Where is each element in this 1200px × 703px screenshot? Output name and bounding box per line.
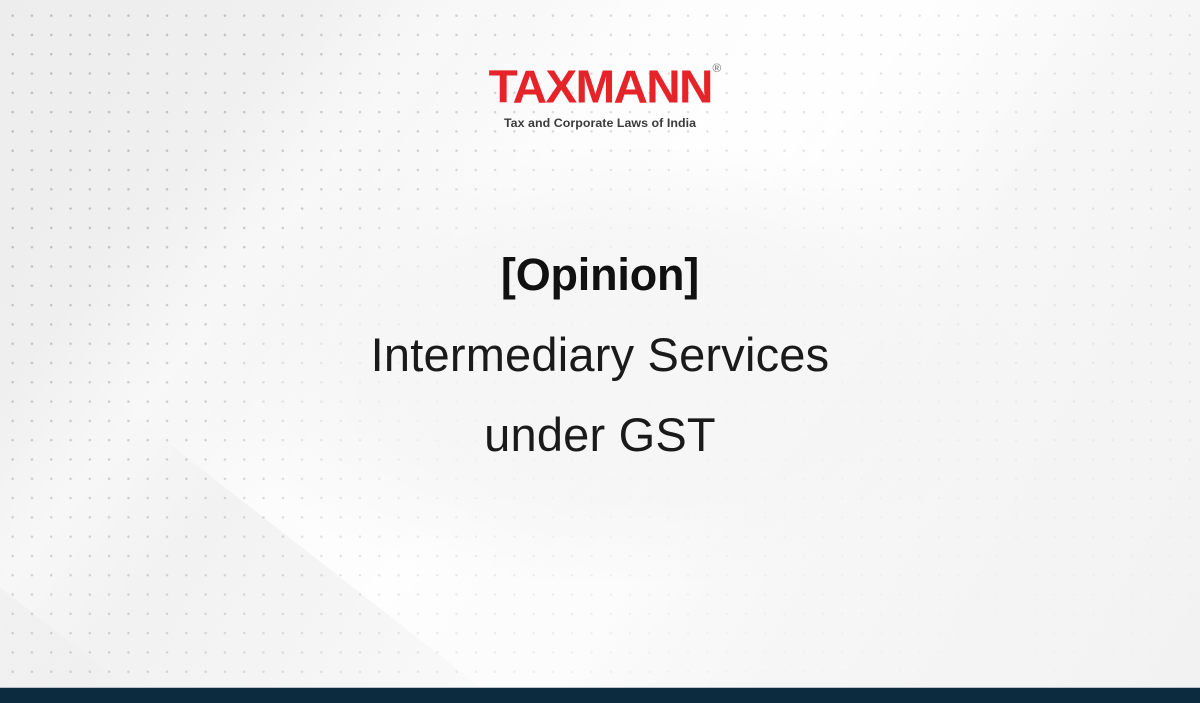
- footer-bar: [0, 688, 1200, 703]
- title-category-tag: [Opinion]: [0, 252, 1200, 297]
- title-line-1: Intermediary Services: [0, 331, 1200, 378]
- taxmann-logo[interactable]: TAXMANN ® Tax and Corporate Laws of Indi…: [0, 64, 1200, 130]
- article-banner: TAXMANN ® Tax and Corporate Laws of Indi…: [0, 0, 1200, 703]
- banner-content: TAXMANN ® Tax and Corporate Laws of Indi…: [0, 0, 1200, 703]
- logo-tagline: Tax and Corporate Laws of India: [0, 116, 1200, 130]
- page-title: [Opinion] Intermediary Services under GS…: [0, 252, 1200, 458]
- registered-trademark-icon: ®: [712, 62, 721, 74]
- title-line-2: under GST: [0, 411, 1200, 458]
- logo-mark: TAXMANN ®: [495, 64, 705, 109]
- logo-wordmark: TAXMANN: [488, 64, 711, 110]
